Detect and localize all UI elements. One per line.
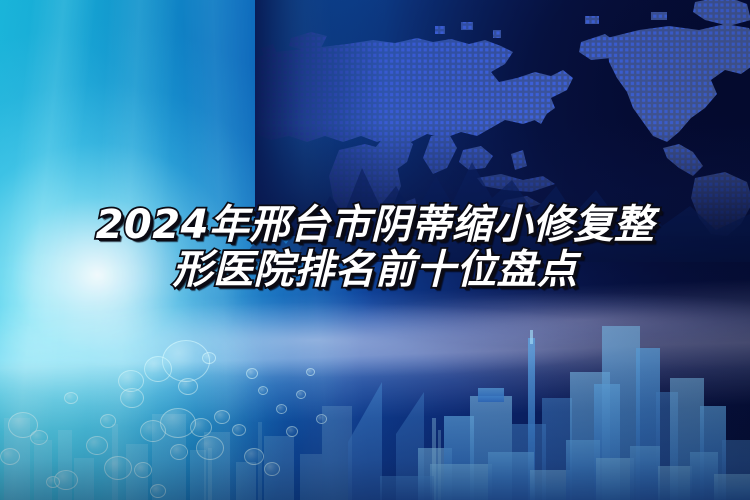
- world-map-dots: [255, 0, 750, 236]
- skyline-foreground: [380, 440, 750, 500]
- angular-tower: [348, 382, 382, 500]
- headline-line-2: 形医院排名前十位盘点: [0, 248, 750, 293]
- skyline-center: [418, 388, 546, 500]
- banner-image: 2024年邢台市阴蒂缩小修复整 形医院排名前十位盘点: [0, 0, 750, 500]
- spire-tower: [528, 338, 535, 500]
- headline-line-1: 2024年邢台市阴蒂缩小修复整: [0, 203, 750, 248]
- skyline-far-left: [4, 406, 352, 500]
- skyline-right: [542, 326, 750, 500]
- page-title: 2024年邢台市阴蒂缩小修复整 形医院排名前十位盘点: [0, 203, 750, 293]
